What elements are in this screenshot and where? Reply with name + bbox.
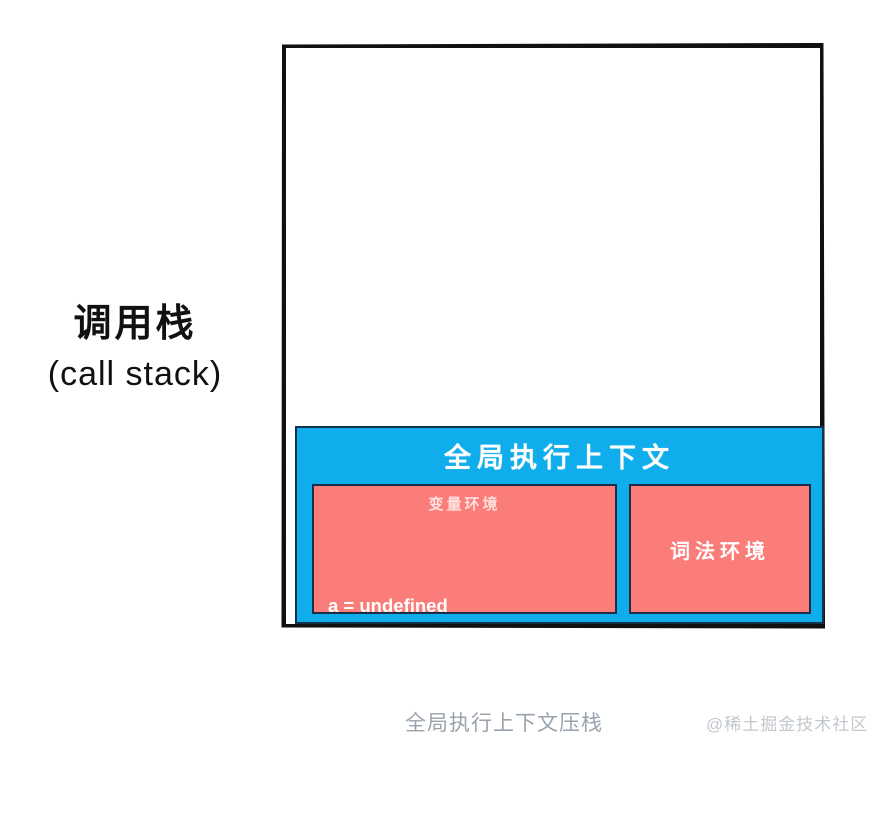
global-execution-context-box[interactable]: 全局执行上下文 变量环境 a = undefined add = functio… <box>295 426 824 624</box>
binding-line: add = function(){ .....} <box>328 673 607 700</box>
binding-line: addAll= function(){.....} <box>328 753 607 780</box>
call-stack-frame: 全局执行上下文 变量环境 a = undefined add = functio… <box>281 43 825 629</box>
call-stack-label-cn: 调用栈 <box>0 300 270 349</box>
call-stack-label: 调用栈 (call stack) <box>0 300 270 396</box>
call-stack-label-en: (call stack) <box>0 353 270 397</box>
call-stack-interior: 全局执行上下文 变量环境 a = undefined add = functio… <box>286 48 820 624</box>
lexical-environment-box[interactable]: 词法环境 <box>629 484 811 614</box>
figure-caption: 全局执行上下文压栈 <box>405 707 603 737</box>
variable-environment-bindings: a = undefined add = function(){ .....} a… <box>328 540 607 833</box>
variable-environment-title: 变量环境 <box>314 493 615 514</box>
watermark: @稀土掘金技术社区 <box>706 710 868 735</box>
lexical-environment-title: 词法环境 <box>670 535 770 564</box>
environment-row: 变量环境 a = undefined add = function(){ ...… <box>312 484 811 614</box>
global-execution-context-title: 全局执行上下文 <box>297 436 822 475</box>
binding-line: a = undefined <box>328 593 607 620</box>
variable-environment-box[interactable]: 变量环境 a = undefined add = function(){ ...… <box>312 484 617 614</box>
